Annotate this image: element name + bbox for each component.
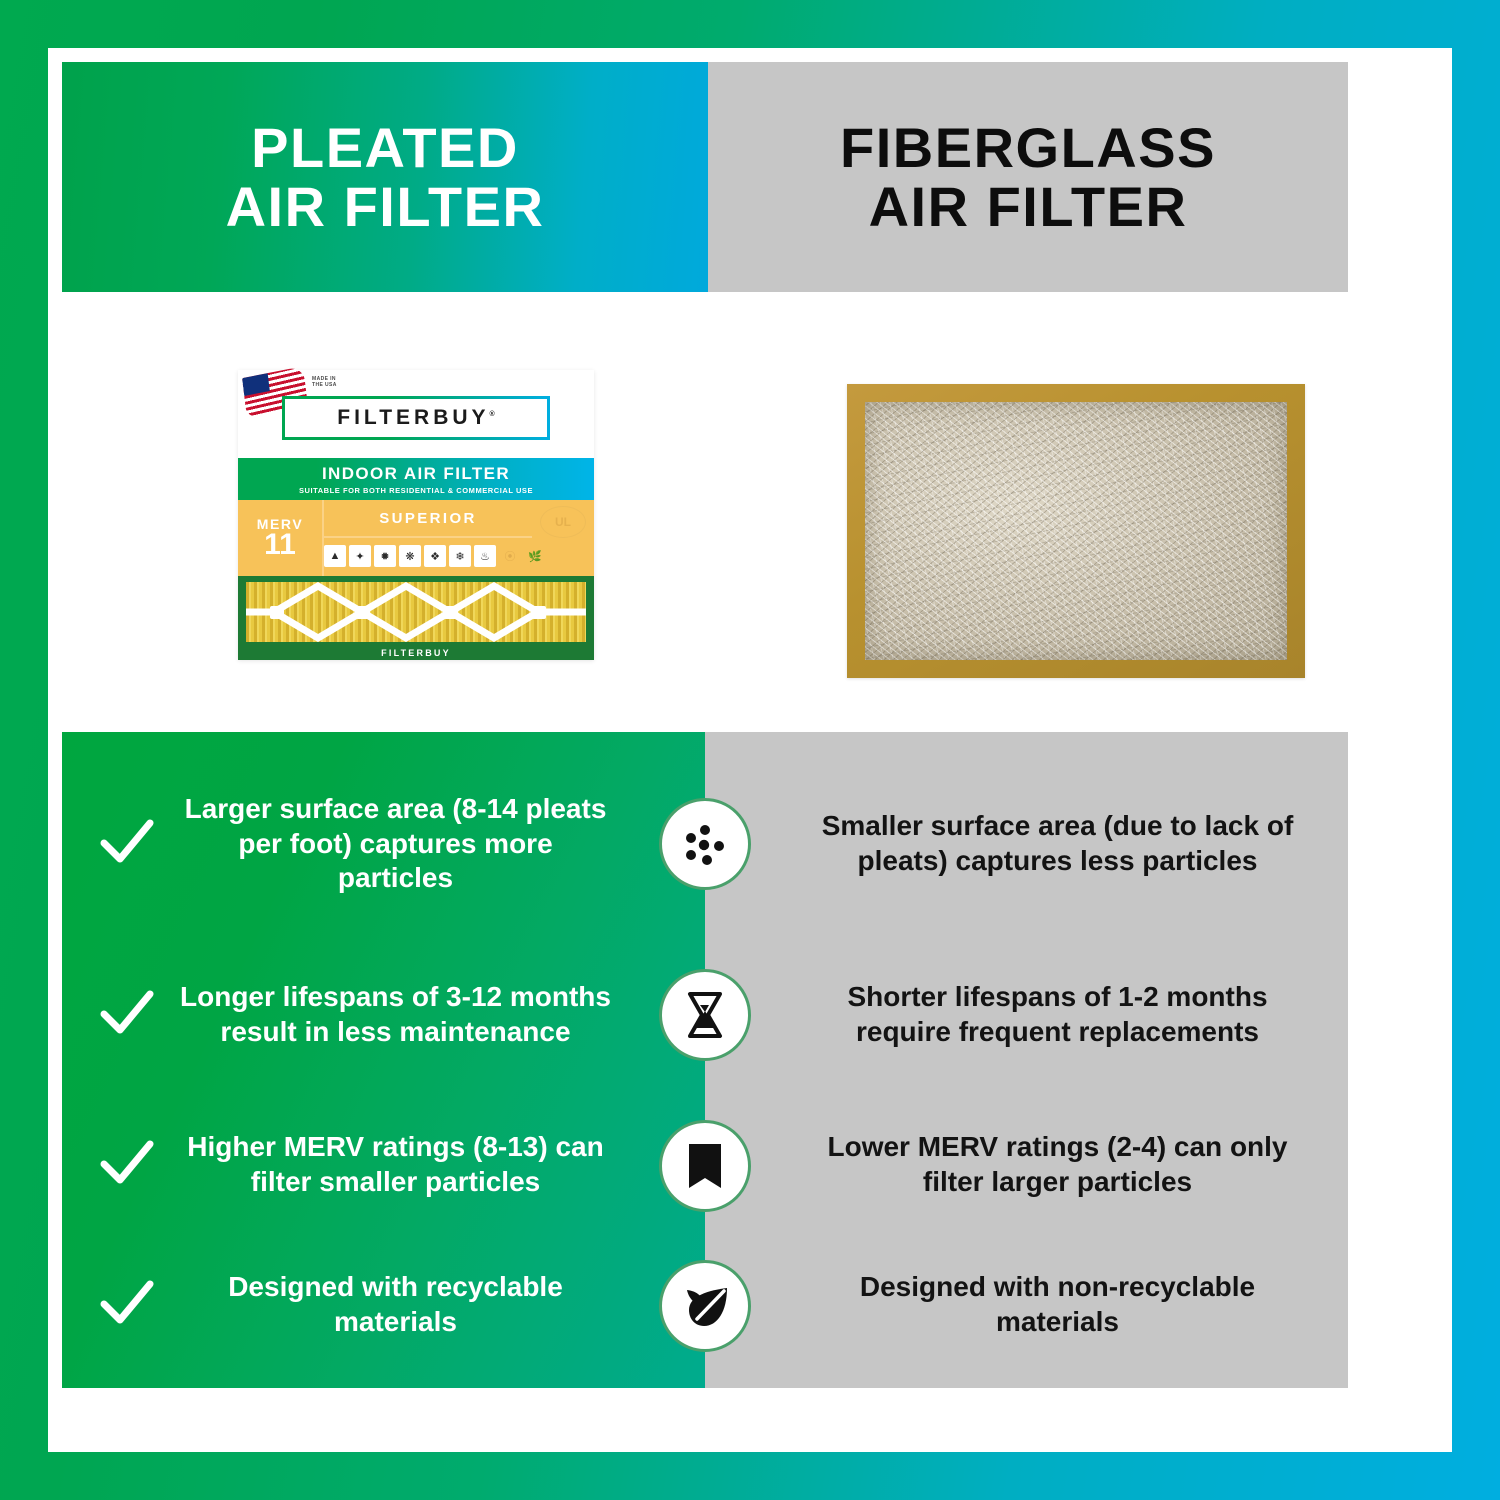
- row-right-fiberglass: Lower MERV ratings (2-4) can only filter…: [705, 1130, 1348, 1199]
- fiberglass-title: FIBERGLASS AIR FILTER: [840, 118, 1216, 237]
- pleated-title: PLEATED AIR FILTER: [226, 118, 545, 237]
- smoke-icon: ♨: [474, 545, 496, 567]
- header-fiberglass: FIBERGLASS AIR FILTER: [708, 62, 1348, 292]
- package-top-white: MADE IN THE USA FILTERBUY®: [238, 370, 594, 458]
- pleated-product-cell: MADE IN THE USA FILTERBUY® INDOOR AIR FI…: [62, 292, 705, 732]
- package-gold-band: MERV 11 SUPERIOR UL ▲ ✦ ✹ ❋ ❖ ❄ ♨ ⦿ 🌿: [238, 500, 594, 576]
- fiberglass-filter-photo: [847, 384, 1305, 678]
- bookmark-icon: [659, 1120, 751, 1212]
- tier-row: SUPERIOR: [324, 500, 532, 538]
- made-in-usa-label: MADE IN THE USA: [312, 376, 337, 389]
- comparison-rows: Larger surface area (8-14 pleats per foo…: [62, 732, 1348, 1388]
- row-left-text: Designed with recyclable materials: [178, 1270, 613, 1339]
- suitable-use-label: SUITABLE FOR BOTH RESIDENTIAL & COMMERCI…: [299, 486, 533, 495]
- indoor-air-filter-label: INDOOR AIR FILTER: [322, 464, 510, 484]
- diamond-lattice-icon: [246, 582, 586, 642]
- row-right-fiberglass: Shorter lifespans of 1-2 months require …: [705, 980, 1348, 1049]
- row-right-text: Smaller surface area (due to lack of ple…: [797, 809, 1318, 878]
- row-left-text: Longer lifespans of 3-12 months result i…: [178, 980, 613, 1049]
- row-left-text: Higher MERV ratings (8-13) can filter sm…: [178, 1130, 613, 1199]
- dust-icon: ▲: [324, 545, 346, 567]
- tier-label: SUPERIOR: [379, 510, 477, 527]
- product-images-row: MADE IN THE USA FILTERBUY® INDOOR AIR FI…: [62, 292, 1348, 732]
- sprout-icon: 🌿: [524, 545, 546, 567]
- spore-icon: ❋: [399, 545, 421, 567]
- row-left-pleated: Designed with recyclable materials: [62, 1270, 705, 1339]
- row-left-pleated: Larger surface area (8-14 pleats per foo…: [62, 792, 705, 896]
- check-icon: [98, 815, 156, 873]
- brand-name: FILTERBUY®: [337, 406, 494, 430]
- check-icon: [98, 1136, 156, 1194]
- leaf-icon: [659, 1260, 751, 1352]
- check-icon: [98, 986, 156, 1044]
- ul-certification-icon: UL: [540, 506, 586, 538]
- fiberglass-mesh-texture: [865, 402, 1287, 660]
- header-band: PLEATED AIR FILTER FIBERGLASS AIR FILTER: [62, 62, 1348, 292]
- row-right-fiberglass: Smaller surface area (due to lack of ple…: [705, 809, 1348, 878]
- row-right-text: Designed with non-recyclable materials: [797, 1270, 1318, 1339]
- merv-column: MERV 11: [238, 500, 324, 576]
- pollen-icon: ✹: [374, 545, 396, 567]
- row-left-text: Larger surface area (8-14 pleats per foo…: [178, 792, 613, 896]
- header-pleated: PLEATED AIR FILTER: [62, 62, 708, 292]
- mold-icon: ⦿: [499, 545, 521, 567]
- pleated-media-view: FILTERBUY: [238, 576, 594, 660]
- bacteria-icon: ❖: [424, 545, 446, 567]
- package-icon-row: ▲ ✦ ✹ ❋ ❖ ❄ ♨ ⦿ 🌿: [324, 538, 590, 574]
- row-left-pleated: Longer lifespans of 3-12 months result i…: [62, 980, 705, 1049]
- brand-box: FILTERBUY®: [282, 396, 550, 440]
- package-indoor-band: INDOOR AIR FILTER SUITABLE FOR BOTH RESI…: [238, 458, 594, 500]
- pleated-filter-package: MADE IN THE USA FILTERBUY® INDOOR AIR FI…: [238, 370, 594, 660]
- filter-brand-label: FILTERBUY: [238, 648, 594, 658]
- particles-icon: [659, 798, 751, 890]
- insect-icon: ✦: [349, 545, 371, 567]
- row-left-pleated: Higher MERV ratings (8-13) can filter sm…: [62, 1130, 705, 1199]
- merv-value: 11: [264, 530, 296, 560]
- hourglass-icon: [659, 969, 751, 1061]
- row-right-fiberglass: Designed with non-recyclable materials: [705, 1270, 1348, 1339]
- row-right-text: Lower MERV ratings (2-4) can only filter…: [797, 1130, 1318, 1199]
- fiberglass-product-cell: [705, 292, 1348, 732]
- check-icon: [98, 1276, 156, 1334]
- row-right-text: Shorter lifespans of 1-2 months require …: [797, 980, 1318, 1049]
- pet-dander-icon: ❄: [449, 545, 471, 567]
